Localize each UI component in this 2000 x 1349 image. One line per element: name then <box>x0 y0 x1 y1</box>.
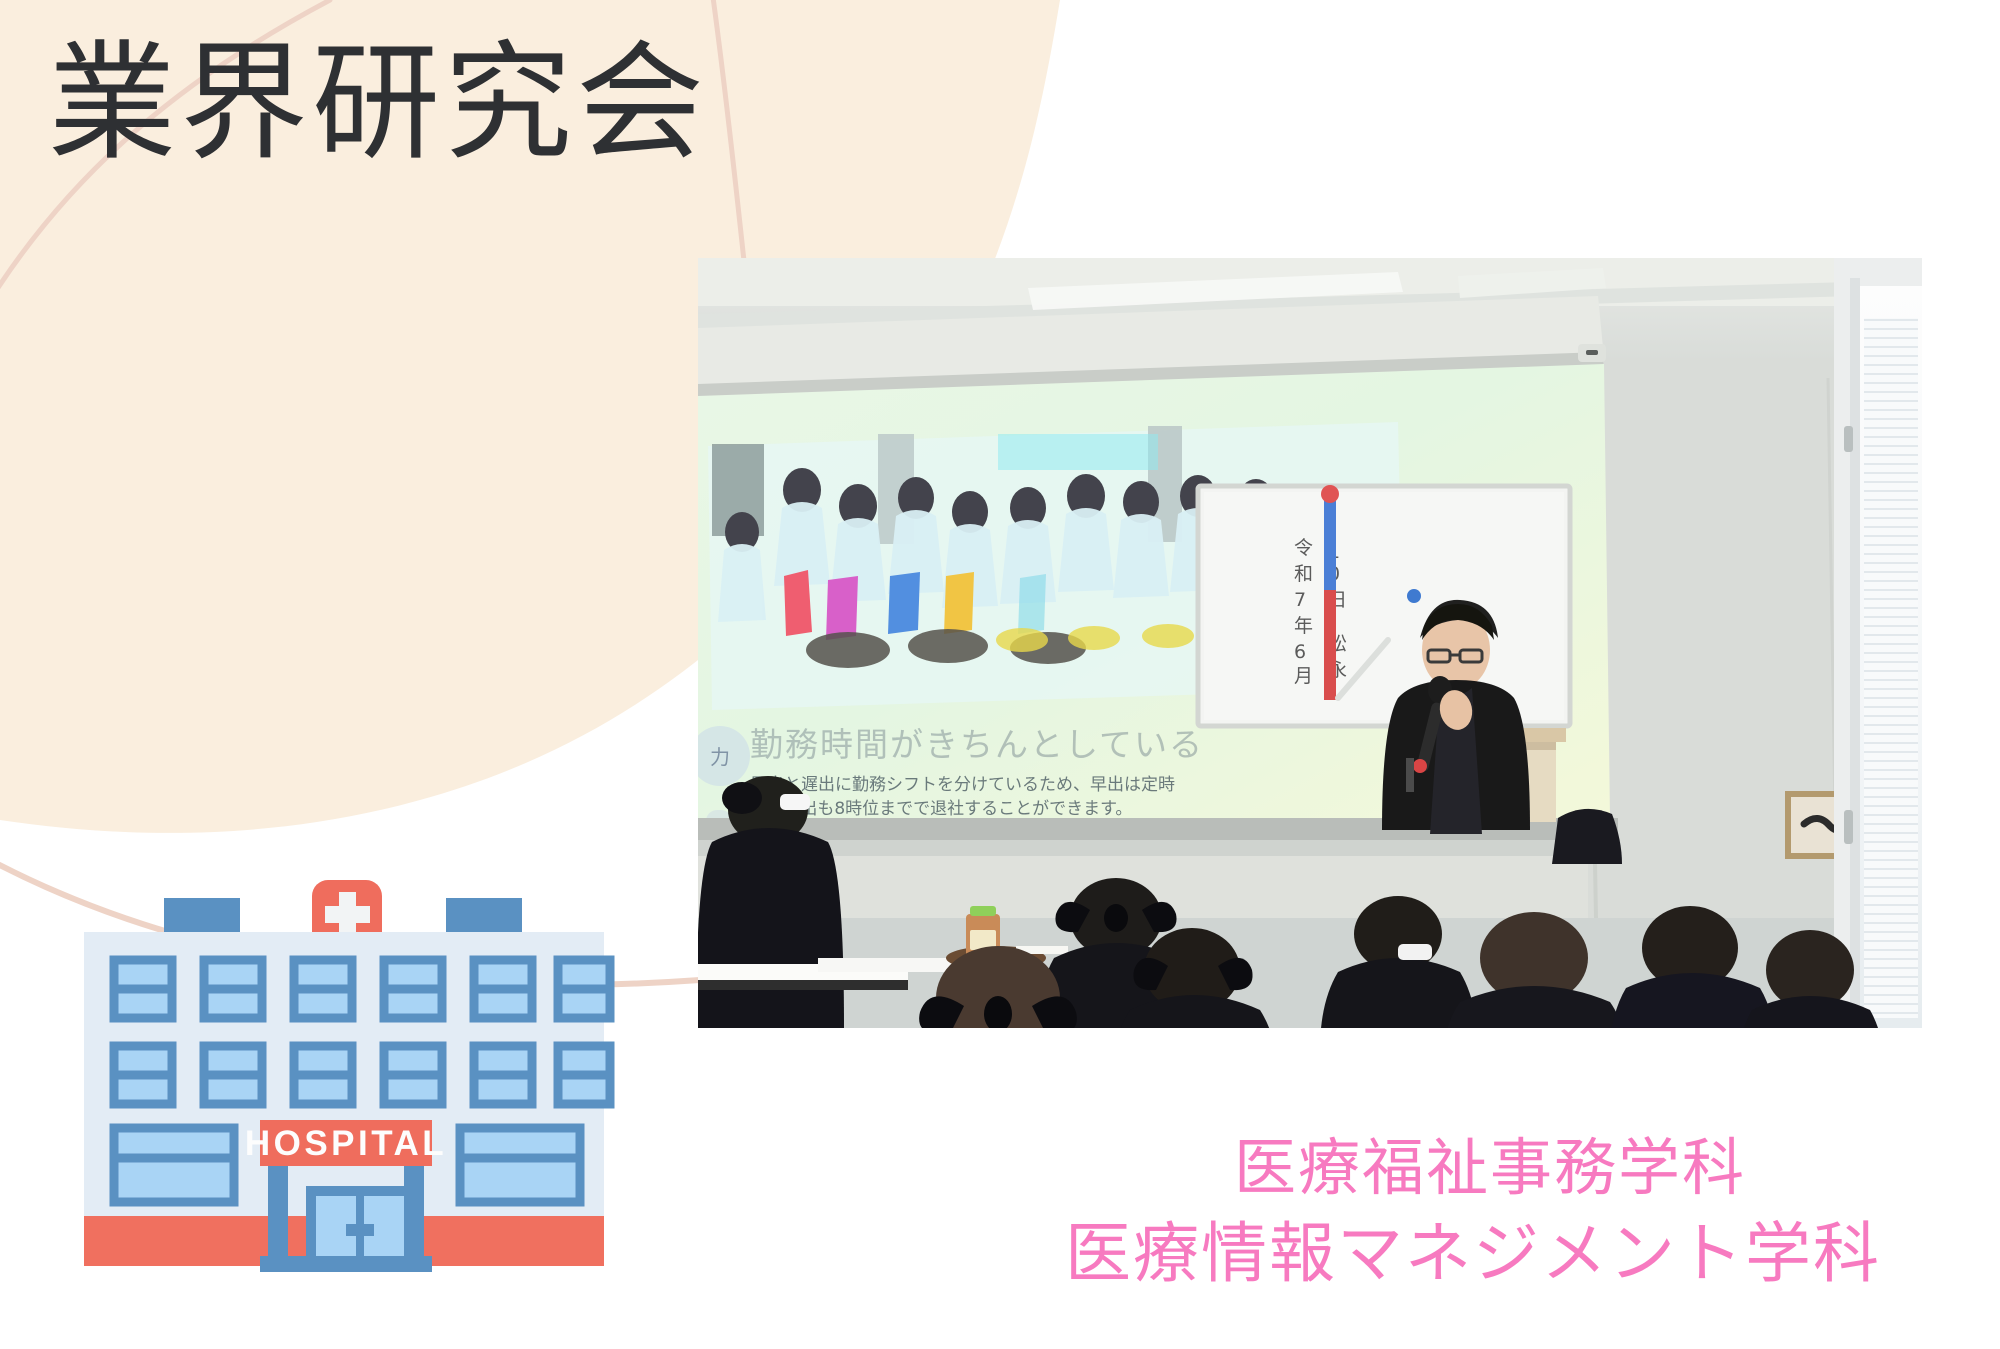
svg-text:和: 和 <box>1294 563 1313 585</box>
svg-text:6: 6 <box>1294 641 1306 663</box>
svg-text:早出と遅出に勤務シフトを分けているため、早出は定時: 早出と遅出に勤務シフトを分けているため、早出は定時 <box>750 775 1175 795</box>
event-photo: 勤務時間がきちんとしている 早出と遅出に勤務シフトを分けているため、早出は定時 … <box>698 258 1922 1028</box>
department-line-1: 医療福祉事務学科 <box>980 1130 2000 1206</box>
roof-box-left <box>164 898 240 932</box>
ground-window-right <box>460 1128 580 1202</box>
page-title: 業界研究会 <box>48 28 708 179</box>
roof-box-right <box>446 898 522 932</box>
svg-text:年: 年 <box>1294 615 1313 637</box>
department-line-2: 医療情報マネジメント学科 <box>946 1214 2000 1295</box>
hospital-sign-label: HOSPITAL <box>245 1124 447 1163</box>
svg-text:月: 月 <box>1294 665 1313 687</box>
department-names: 医療福祉事務学科 医療情報マネジメント学科 <box>980 1130 2000 1294</box>
hospital-illustration: HOSPITAL <box>64 880 624 1300</box>
entrance-step <box>260 1256 432 1272</box>
svg-text:力: 力 <box>710 745 730 769</box>
svg-text:勤務時間がきちんとしている: 勤務時間がきちんとしている <box>750 725 1204 764</box>
svg-text:令: 令 <box>1294 537 1313 559</box>
pillar-left <box>268 1166 288 1262</box>
hospital-sign: HOSPITAL <box>245 1120 447 1166</box>
ground-window-left <box>114 1128 234 1202</box>
svg-text:7: 7 <box>1294 589 1306 611</box>
